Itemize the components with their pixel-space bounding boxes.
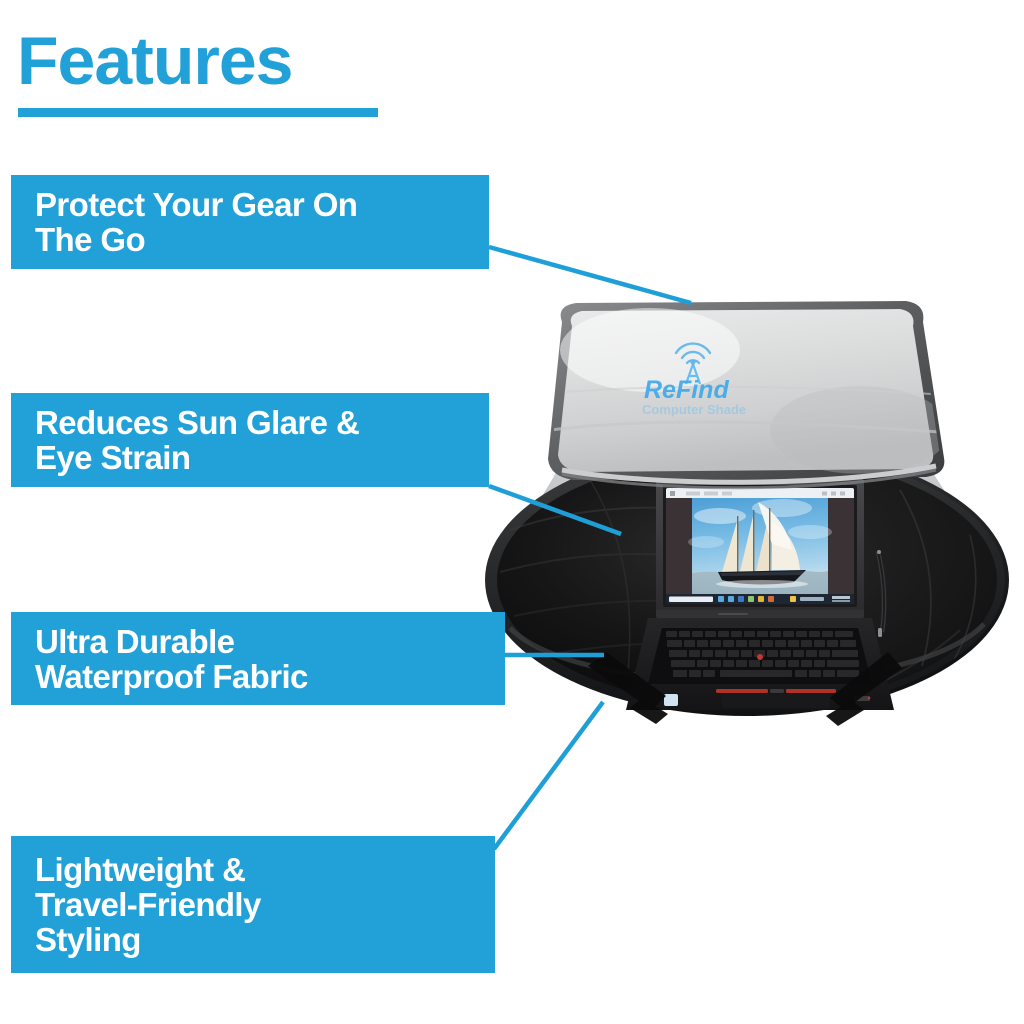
feature-callout-lightweight-travel[interactable]: Lightweight & Travel-Friendly Styling: [11, 836, 495, 973]
tower-beacon: [690, 359, 695, 364]
infographic-canvas: Features: [0, 0, 1024, 1024]
trackpad-button-left: [716, 689, 768, 693]
feature-label-protect-gear: Protect Your Gear On The Go: [11, 187, 367, 257]
product-photo: ReFind Computer Shade: [470, 280, 1024, 740]
brand-wordmark: ReFind: [644, 376, 729, 404]
laptop: [626, 478, 894, 710]
feature-label-reduces-glare: Reduces Sun Glare & Eye Strain: [11, 405, 369, 475]
shade-top-panel: ReFind Computer Shade: [548, 301, 950, 488]
feature-callout-protect-gear[interactable]: Protect Your Gear On The Go: [11, 175, 489, 269]
title-underline: [18, 108, 378, 117]
feature-callout-reduces-glare[interactable]: Reduces Sun Glare & Eye Strain: [11, 393, 489, 487]
page-title: Features: [17, 27, 292, 95]
brand-tagline: Computer Shade: [642, 402, 746, 417]
feature-label-waterproof-fabric: Ultra Durable Waterproof Fabric: [11, 624, 318, 694]
trackpoint-nub: [757, 654, 763, 660]
laptop-screen: [666, 488, 854, 604]
feature-callout-waterproof-fabric[interactable]: Ultra Durable Waterproof Fabric: [11, 612, 505, 705]
spec-sticker: [664, 694, 678, 706]
trackpad-button-right: [786, 689, 836, 693]
feature-label-lightweight-travel: Lightweight & Travel-Friendly Styling: [11, 852, 271, 957]
